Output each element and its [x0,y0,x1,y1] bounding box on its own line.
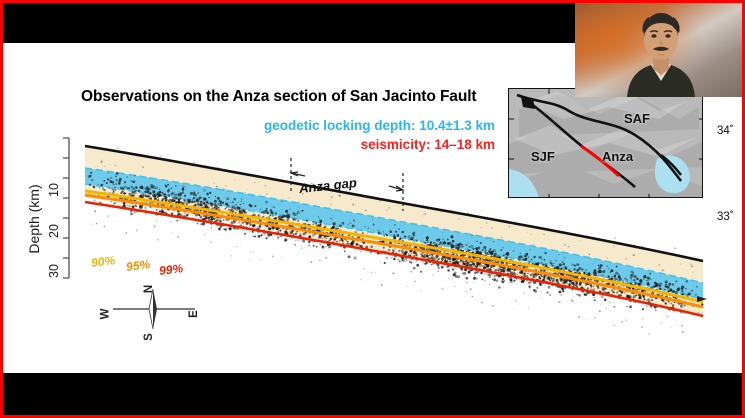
y-tick-label-20: 20 [47,218,61,244]
y-tick-label-10: 10 [47,177,61,203]
inset-label-saf: SAF [624,111,650,126]
figure-title: Observations on the Anza section of San … [81,88,476,106]
inset-label-anza: Anza [602,149,633,164]
compass-north-label: N [143,285,155,293]
presenter-video-frame [575,3,742,97]
inset-label-sjf: SJF [531,149,555,164]
letterbox-bottom-bar [3,373,742,415]
latitude-label-34: 34˚ [717,125,734,137]
y-tick-label-30: 30 [47,258,61,284]
percentile-label-90: 90% [90,253,116,270]
y-axis-title: Depth (km) [26,164,42,274]
compass-west-label: W [99,309,111,320]
presenter-video-overlay[interactable] [575,3,742,97]
percentile-label-99: 99% [158,261,184,278]
geodetic-locking-depth-label: geodetic locking depth: 10.4±1.3 km [3,118,495,133]
y-axis [63,138,69,278]
slide-frame: Observations on the Anza section of San … [0,0,745,418]
latitude-label-33: 33˚ [717,211,734,223]
compass-south-label: S [143,333,155,341]
compass-rose: N S E W [98,283,213,345]
inset-map-svg [509,89,703,198]
compass-east-label: E [188,310,200,318]
seismicity-depth-label: seismicity: 14–18 km [3,137,495,152]
inset-regional-map: SAF SJF Anza [508,88,703,198]
percentile-label-95: 95% [125,257,151,274]
